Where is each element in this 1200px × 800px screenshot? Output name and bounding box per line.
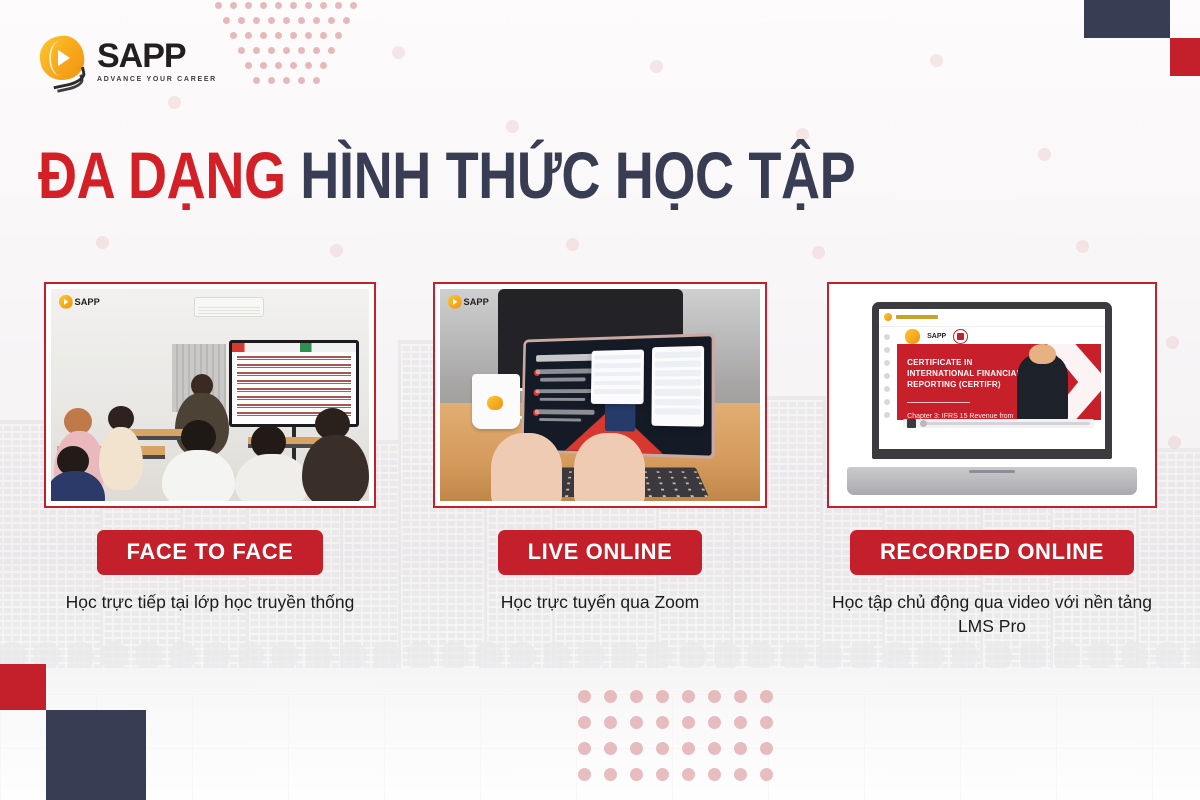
badge-live-online[interactable]: LIVE ONLINE [498, 530, 703, 575]
photo-frame: SAPP CERTIFICATE IN INTERNATIONAL FINANC… [827, 282, 1157, 508]
corner-block-navy-bottom-left [46, 710, 146, 800]
acca-seal-icon [953, 329, 968, 344]
page-title: ĐA DẠNG HÌNH THỨC HỌC TẬP [38, 142, 855, 208]
slide-canvas: SAPP ADVANCE YOUR CAREER ĐA DẠNG HÌNH TH… [0, 0, 1200, 800]
card-caption-recorded-online: Học tập chủ động qua video với nền tảng … [827, 591, 1157, 638]
video-player-controls[interactable] [903, 419, 1094, 428]
lesson-nav-rail[interactable] [881, 334, 892, 421]
corner-block-red-top-right [1170, 38, 1200, 76]
dot-cluster-top [215, 2, 365, 92]
lms-brand-label: SAPP [927, 333, 946, 340]
corner-block-navy-top-right [1084, 0, 1170, 38]
photo-watermark-logo: SAPP [448, 295, 489, 309]
page-title-rest: HÌNH THỨC HỌC TẬP [300, 138, 855, 212]
photo-frame: SAPP [44, 282, 376, 508]
learning-mode-card-face-to-face: SAPP FACE TO FACE Học trực tiếp tại lớp … [44, 282, 376, 615]
laptop-zoom-photo: SAPP [440, 289, 760, 501]
badge-face-to-face[interactable]: FACE TO FACE [97, 530, 324, 575]
laptop-lms-video-photo: SAPP CERTIFICATE IN INTERNATIONAL FINANC… [834, 289, 1150, 501]
card-caption-live-online: Học trực tuyến qua Zoom [433, 591, 767, 615]
dot-cluster-bottom [578, 690, 786, 794]
photo-frame: SAPP [433, 282, 767, 508]
learning-mode-card-recorded-online: SAPP CERTIFICATE IN INTERNATIONAL FINANC… [827, 282, 1157, 638]
photo-watermark-logo: SAPP [59, 295, 100, 309]
course-title: CERTIFICATE IN INTERNATIONAL FINANCIAL R… [907, 358, 1026, 390]
coffee-mug [472, 374, 520, 429]
logo-tagline: ADVANCE YOUR CAREER [97, 76, 217, 83]
play-pause-icon[interactable] [907, 419, 916, 428]
learning-mode-card-live-online: SAPP LIVE ONLINE Học trực tuyến qua Zoom [433, 282, 767, 615]
video-progress-slider[interactable] [920, 422, 1090, 425]
participants-panel [651, 345, 704, 425]
sapp-logomark-icon [38, 34, 90, 88]
badge-recorded-online[interactable]: RECORDED ONLINE [850, 530, 1134, 575]
page-title-highlight: ĐA DẠNG [38, 138, 286, 212]
card-caption-face-to-face: Học trực tiếp tại lớp học truyền thống [44, 591, 376, 615]
classroom-photo: SAPP [51, 289, 369, 501]
sapp-logomark-icon [884, 313, 892, 321]
video-slide: CERTIFICATE IN INTERNATIONAL FINANCIAL R… [897, 344, 1101, 421]
breadcrumb [896, 315, 938, 319]
laptop-screen: SAPP CERTIFICATE IN INTERNATIONAL FINANC… [872, 302, 1112, 459]
sapp-logo: SAPP ADVANCE YOUR CAREER [38, 34, 217, 88]
corner-block-red-bottom-left [0, 664, 46, 710]
logo-wordmark: SAPP [97, 39, 217, 73]
lecturer-portrait [1017, 355, 1068, 421]
